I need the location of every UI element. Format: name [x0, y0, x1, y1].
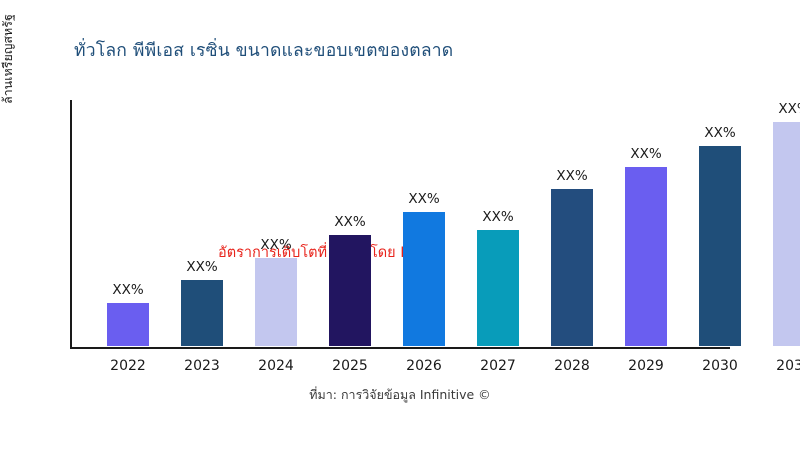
- x-tick-2025: 2025: [329, 358, 371, 374]
- chart-title: ทั่วโลก พีพีเอส เรซิ่น ขนาดและขอบเขตของต…: [74, 36, 453, 64]
- x-tick-2024: 2024: [255, 358, 297, 374]
- bar-value-label-2029: XX%: [630, 146, 661, 162]
- bar-2028[interactable]: XX%: [551, 189, 593, 346]
- bar-2026[interactable]: XX%: [403, 212, 445, 346]
- bar-rect-2026[interactable]: [403, 212, 445, 346]
- x-tick-2026: 2026: [403, 358, 445, 374]
- source-note: ที่มา: การวิจัยข้อมูล Infinitive ©: [0, 385, 800, 405]
- y-axis-title-label: ล้านเหรียญสหรัฐ: [0, 14, 18, 104]
- bar-2022[interactable]: XX%: [107, 303, 149, 346]
- growth-rate-annotation: อัตราการเติบโตที่ XX% โดย IDR: [218, 241, 426, 264]
- bar-2023[interactable]: XX%: [181, 280, 223, 346]
- bar-value-label-2025: XX%: [334, 214, 365, 230]
- y-axis-line: [70, 100, 72, 348]
- bar-rect-2029[interactable]: [625, 167, 667, 346]
- bar-rect-2027[interactable]: [477, 230, 519, 346]
- bar-value-label-2022: XX%: [112, 282, 143, 298]
- bar-value-label-2027: XX%: [482, 209, 513, 225]
- bar-2030[interactable]: XX%: [699, 146, 741, 346]
- bar-2025[interactable]: XX%: [329, 235, 371, 346]
- x-tick-2027: 2027: [477, 358, 519, 374]
- bar-2027[interactable]: XX%: [477, 230, 519, 346]
- x-tick-2030: 2030: [699, 358, 741, 374]
- bar-value-label-2028: XX%: [556, 168, 587, 184]
- bar-rect-2031[interactable]: [773, 122, 800, 346]
- bar-2031[interactable]: XX%: [773, 122, 800, 346]
- bar-value-label-2024: XX%: [260, 237, 291, 253]
- bar-rect-2025[interactable]: [329, 235, 371, 346]
- bar-rect-2030[interactable]: [699, 146, 741, 346]
- x-tick-2028: 2028: [551, 358, 593, 374]
- bar-2024[interactable]: XX%: [255, 258, 297, 346]
- bar-value-label-2023: XX%: [186, 259, 217, 275]
- x-tick-2023: 2023: [181, 358, 223, 374]
- x-tick-2029: 2029: [625, 358, 667, 374]
- bar-rect-2022[interactable]: [107, 303, 149, 346]
- bar-value-label-2031: XX%: [778, 101, 800, 117]
- bar-rect-2023[interactable]: [181, 280, 223, 346]
- bar-value-label-2026: XX%: [408, 191, 439, 207]
- bar-rect-2024[interactable]: [255, 258, 297, 346]
- y-axis-title: ล้านเหรียญสหรัฐ: [0, 0, 18, 104]
- x-tick-2031: 2031: [773, 358, 800, 374]
- x-tick-2022: 2022: [107, 358, 149, 374]
- x-axis-line: [70, 347, 730, 349]
- plot-area: อัตราการเติบโตที่ XX% โดย IDR XX%XX%XX%X…: [70, 100, 780, 348]
- bar-rect-2028[interactable]: [551, 189, 593, 346]
- bar-value-label-2030: XX%: [704, 125, 735, 141]
- bar-2029[interactable]: XX%: [625, 167, 667, 346]
